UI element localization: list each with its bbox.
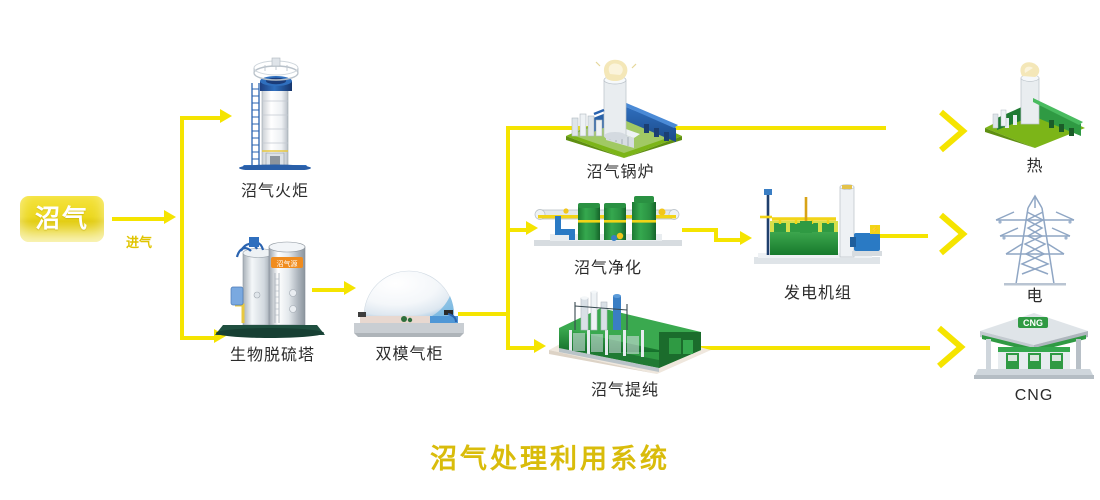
svg-text:CNG: CNG [1023,318,1043,328]
cng-station-icon: CNG [972,305,1096,383]
node-gasholder-label: 双模气柜 [352,340,467,364]
node-flare-label: 沼气火炬 [210,177,340,201]
node-desulfurization[interactable]: 沼气源 [205,235,340,365]
flow-to-purification [506,228,528,232]
biological-desulfurization-tower-icon: 沼气源 [205,235,340,340]
flow-holder-bus [506,128,510,348]
transmission-tower-icon [980,190,1090,286]
node-upgrading-label: 沼气提纯 [535,376,715,400]
biogas-source-chip[interactable]: 沼气 [20,196,104,242]
heat-plant-icon [975,62,1095,150]
gas-generator-set-icon: ⚡ [748,183,888,273]
node-upgrading[interactable]: 沼气提纯 [535,288,715,408]
output-heat-label: 热 [975,152,1095,176]
output-power[interactable]: 电 [980,190,1090,310]
node-desulfurization-label: 生物脱硫塔 [205,341,340,365]
double-membrane-gas-holder-icon [352,252,467,342]
chevron-heat-icon [936,108,970,154]
node-boiler-label: 沼气锅炉 [548,158,693,182]
chevron-power-icon [936,211,970,257]
flow-purification-to-generator-2 [714,238,742,242]
flow-source-arrowhead [164,210,176,224]
biogas-source-label: 沼气 [20,196,104,242]
flow-split-bus [180,118,184,340]
output-cng-label: CNG [972,387,1096,405]
svg-text:⚡: ⚡ [871,225,880,234]
flow-to-upgrading [506,346,536,350]
output-power-label: 电 [980,282,1090,306]
biogas-upgrading-plant-icon [535,288,715,378]
node-purification[interactable]: 沼气净化 [528,192,688,292]
flow-source-main [112,217,164,221]
chevron-cng-icon [934,324,968,370]
biogas-purification-skid-icon [528,192,688,254]
flow-upgrading-to-cng [700,346,930,350]
biogas-boiler-icon [548,58,693,158]
node-generator-label: 发电机组 [748,279,888,303]
node-generator[interactable]: ⚡ 发电机组 [748,183,888,298]
svg-text:沼气源: 沼气源 [277,259,298,268]
output-cng[interactable]: CNG CNG [972,305,1096,415]
node-purification-label: 沼气净化 [528,254,688,278]
flare-tower-icon [210,55,340,170]
node-gasholder[interactable]: 双模气柜 [352,252,467,367]
output-heat[interactable]: 热 [975,62,1095,172]
biogas-system-diagram: 沼气 进气 [0,0,1100,500]
node-boiler[interactable]: 沼气锅炉 [548,58,693,183]
node-flare[interactable]: 沼气火炬 [210,55,340,205]
inlet-gas-label: 进气 [104,232,174,251]
diagram-title: 沼气处理利用系统 [0,437,1100,476]
